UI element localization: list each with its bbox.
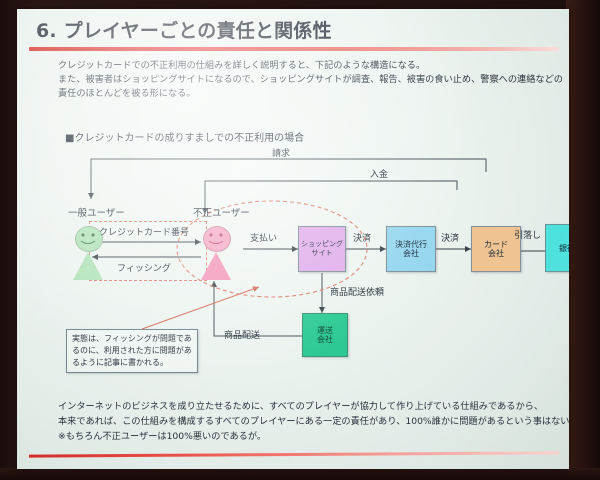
screenshot-root: 6. プレイヤーごとの責任と関係性 クレジットカードでの不正利用の仕組みを詳しく… <box>0 0 600 480</box>
edge-label-withdrawal: 引落し <box>514 228 541 241</box>
node-settlement-agency-line2: 会社 <box>403 249 419 258</box>
edge-label-shipment: 商品配送 <box>224 328 260 341</box>
conclusion-line-2: 本来であれば、この仕組みを構成するすべてのプレイヤーにある一定の責任があり、10… <box>58 414 569 429</box>
presentation-slide: 6. プレイヤーごとの責任と関係性 クレジットカードでの不正利用の仕組みを詳しく… <box>17 9 569 469</box>
edge-label-deposit: 入金 <box>370 167 388 180</box>
screen-bezel-right <box>566 0 600 480</box>
edge-label-claim: 請求 <box>272 146 290 159</box>
edge-label-settlement-2: 決済 <box>441 231 459 244</box>
screen-bezel-bottom <box>0 468 600 480</box>
node-card-company-line1: カード <box>484 240 508 249</box>
node-delivery-company-line1: 運送 <box>317 326 333 335</box>
node-shopping-site[interactable]: ショッピング サイト <box>298 226 346 272</box>
node-settlement-agency-line1: 決済代行 <box>395 240 427 249</box>
node-delivery-company[interactable]: 運送 会社 <box>302 313 348 357</box>
conclusion-paragraph: インターネットのビジネスを成り立たせるために、すべてのプレイヤーが協力して作り上… <box>58 399 569 444</box>
conclusion-line-1: インターネットのビジネスを成り立たせるために、すべてのプレイヤーが協力して作り上… <box>58 399 569 414</box>
node-bank[interactable]: 銀行 <box>545 224 569 272</box>
node-card-company-line2: 会社 <box>488 249 504 258</box>
edge-label-payment: 支払い <box>250 231 277 244</box>
node-delivery-company-line2: 会社 <box>317 335 333 344</box>
edge-label-settlement-1: 決済 <box>353 231 371 244</box>
edge-label-card-number: クレジットカード番号 <box>99 225 189 238</box>
edge-label-phishing: フィッシング <box>117 261 171 274</box>
node-shopping-site-line2: サイト <box>312 249 333 257</box>
conclusion-line-3: ※もちろん不正ユーザーは100%悪いのであるが。 <box>58 429 569 444</box>
annotation-note: 実態は、フィッシングが問題であるのに、利用された方に問題があるように記事に書かれ… <box>66 329 198 373</box>
edge-label-shipment-request: 商品配送依頼 <box>330 285 384 298</box>
node-shopping-site-line1: ショッピング <box>301 240 343 248</box>
node-bank-line1: 銀行 <box>559 244 569 253</box>
node-settlement-agency[interactable]: 決済代行 会社 <box>386 226 436 272</box>
